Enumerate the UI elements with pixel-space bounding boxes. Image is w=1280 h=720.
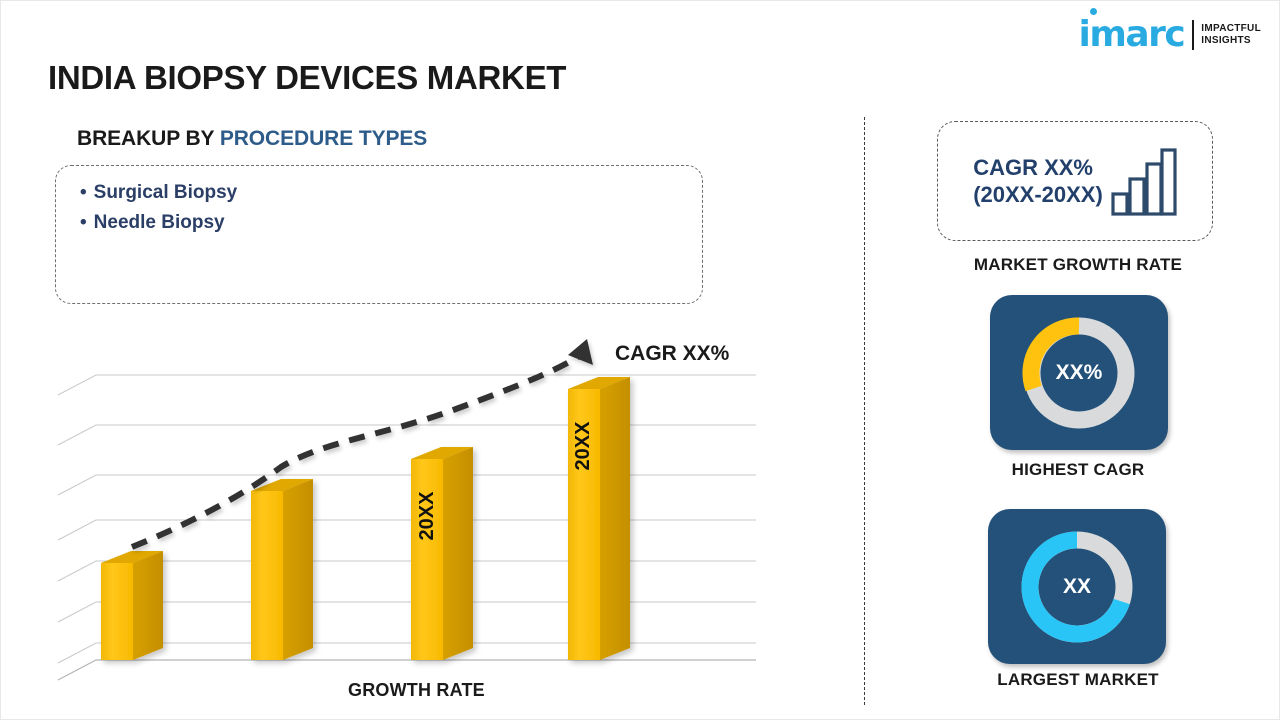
breakup-subtitle: BREAKUP BY PROCEDURE TYPES [77, 127, 427, 151]
chart-axis-label: GROWTH RATE [348, 680, 485, 701]
subtitle-prefix: BREAKUP BY [77, 127, 220, 150]
bar-3 [411, 447, 473, 660]
highest-cagr-label: HIGHEST CAGR [928, 460, 1228, 480]
chart-svg: 20XX 20XX [56, 331, 756, 681]
logo-divider [1192, 20, 1194, 50]
bar-2 [251, 479, 313, 660]
growth-bar-chart: 20XX 20XX [56, 331, 756, 681]
bar-4 [568, 377, 630, 660]
panel-divider [864, 117, 865, 705]
largest-market-card: XX [988, 509, 1166, 664]
logo-dot-icon [1090, 8, 1097, 15]
cagr-text: CAGR XX% (20XX-20XX) [973, 154, 1103, 209]
market-growth-rate-card: CAGR XX% (20XX-20XX) [937, 121, 1213, 241]
list-item: •Needle Biopsy [80, 208, 678, 238]
imarc-logo: imarc IMPACTFUL INSIGHTS [1079, 15, 1261, 55]
bullet-icon: • [80, 182, 87, 203]
logo-tagline: IMPACTFUL INSIGHTS [1201, 23, 1261, 48]
cagr-line-2: (20XX-20XX) [973, 181, 1103, 209]
list-item-label: Surgical Biopsy [94, 182, 238, 203]
bar-chart-icon [1111, 146, 1177, 216]
bar-label-4: 20XX [572, 421, 594, 471]
list-item-label: Needle Biopsy [94, 212, 225, 233]
chart-baseline [58, 660, 756, 680]
segment-list-box: •Surgical Biopsy •Needle Biopsy [55, 165, 703, 304]
list-item: •Surgical Biopsy [80, 178, 678, 208]
logo-text: imarc [1079, 14, 1185, 55]
donut-value-highest-cagr: XX% [1017, 311, 1141, 435]
bar-label-3: 20XX [416, 491, 438, 541]
page-title: INDIA BIOPSY DEVICES MARKET [48, 59, 566, 97]
slide-canvas: imarc IMPACTFUL INSIGHTS INDIA BIOPSY DE… [0, 0, 1280, 720]
subtitle-accent: PROCEDURE TYPES [220, 127, 427, 150]
largest-market-label: LARGEST MARKET [928, 670, 1228, 690]
logo-wordmark: imarc [1079, 17, 1185, 53]
donut-chart-largest-market: XX [1015, 525, 1139, 649]
donut-chart-highest-cagr: XX% [1017, 311, 1141, 435]
trend-line [132, 339, 593, 547]
bullet-icon: • [80, 212, 87, 233]
chart-cagr-callout: CAGR XX% [615, 342, 729, 366]
logo-tagline-line2: INSIGHTS [1201, 35, 1261, 48]
logo-tagline-line1: IMPACTFUL [1201, 23, 1261, 36]
market-growth-rate-label: MARKET GROWTH RATE [928, 255, 1228, 275]
cagr-line-1: CAGR XX% [973, 154, 1103, 182]
bar-1 [101, 551, 163, 660]
donut-value-largest-market: XX [1015, 525, 1139, 649]
highest-cagr-card: XX% [990, 295, 1168, 450]
